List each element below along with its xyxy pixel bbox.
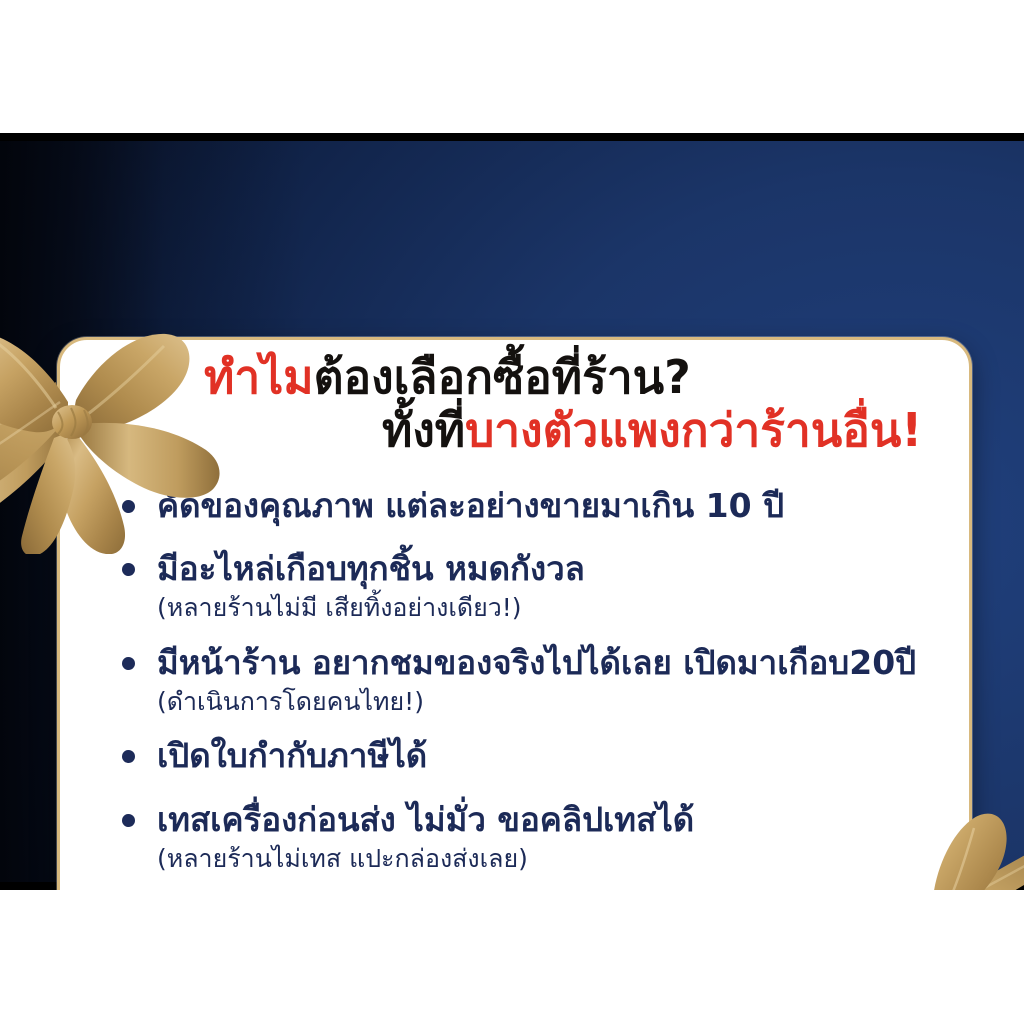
list-item: มีหน้าร้าน อยากชมของจริงไปได้เลย เปิดมาเ… — [86, 641, 943, 718]
headline-line-2-red: บางตัวแพงกว่าร้านอื่น! — [465, 403, 922, 457]
bullet-dot-icon — [122, 750, 135, 763]
list-item: คัดของคุณภาพ แต่ละอย่างขายมาเกิน 10 ปี — [86, 484, 943, 528]
bullet-dot-icon — [122, 814, 135, 827]
list-item-text: เปิดใบกำกับภาษีได้ — [157, 734, 427, 778]
bullet-dot-icon — [122, 500, 135, 513]
bullet-dot-icon — [122, 563, 135, 576]
list-item: มีอะไหล่เกือบทุกชิ้น หมดกังวล (หลายร้านไ… — [86, 547, 943, 624]
headline-line-2-black: ทั้งที่ — [382, 403, 465, 457]
headline-block: ทำไมต้องเลือกซื้อที่ร้าน? ทั้งที่บางตัวแ… — [86, 354, 943, 454]
headline-line-1-black: ต้องเลือกซื้อที่ร้าน? — [314, 350, 691, 404]
list-item-text: คัดของคุณภาพ แต่ละอย่างขายมาเกิน 10 ปี — [157, 484, 784, 528]
artboard-band: ทำไมต้องเลือกซื้อที่ร้าน? ทั้งที่บางตัวแ… — [0, 133, 1024, 890]
poster-canvas: ทำไมต้องเลือกซื้อที่ร้าน? ทั้งที่บางตัวแ… — [0, 0, 1024, 1024]
list-item: เทสเครื่องก่อนส่ง ไม่มั่ว ขอคลิปเทสได้ (… — [86, 798, 943, 875]
list-item-text: เทสเครื่องก่อนส่ง ไม่มั่ว ขอคลิปเทสได้ — [157, 798, 694, 842]
headline-line-2: ทั้งที่บางตัวแพงกว่าร้านอื่น! — [86, 407, 943, 454]
headline-line-1: ทำไมต้องเลือกซื้อที่ร้าน? — [86, 354, 943, 401]
list-item-text: มีอะไหล่เกือบทุกชิ้น หมดกังวล — [157, 547, 585, 591]
list-item-note: (หลายร้านไม่เทส แปะกล่องส่งเลย) — [157, 844, 943, 875]
bullet-dot-icon — [122, 657, 135, 670]
list-item-note: (หลายร้านไม่มี เสียทิ้งอย่างเดียว!) — [157, 593, 943, 624]
list-item: เปิดใบกำกับภาษีได้ — [86, 734, 943, 778]
list-item-note: (ดำเนินการโดยคนไทย!) — [157, 687, 943, 718]
headline-line-1-red: ทำไม — [204, 350, 314, 404]
benefits-list: คัดของคุณภาพ แต่ละอย่างขายมาเกิน 10 ปี ม… — [86, 484, 943, 875]
content-card: ทำไมต้องเลือกซื้อที่ร้าน? ทั้งที่บางตัวแ… — [57, 337, 972, 890]
list-item-text: มีหน้าร้าน อยากชมของจริงไปได้เลย เปิดมาเ… — [157, 641, 916, 685]
